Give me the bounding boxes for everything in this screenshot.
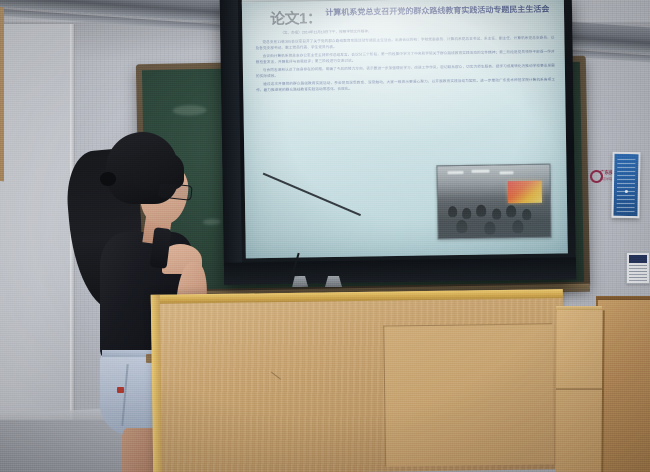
slide-body: 党总支在11栋305会议室召开了关于党的群众路线教育实践活动专题民主生活会。出席… [255, 35, 555, 94]
lectern [151, 289, 565, 472]
shorts-red-tab [117, 387, 124, 393]
notice-header-band [629, 255, 647, 263]
slide-title-lead: 论文1： [270, 7, 322, 29]
poster-marker [625, 190, 628, 193]
chalk-smudge [173, 105, 207, 116]
cabinet-seam [556, 388, 602, 390]
logo-subtext: 师范学院 [600, 177, 612, 181]
projected-slide: 论文1： 计算机系党总支召开党的群众路线教育实践活动专题民主生活会 （文、办宣）… [242, 0, 568, 258]
slide-title: 论文1： 计算机系党总支召开党的群众路线教育实践活动专题民主生活会 [270, 4, 556, 29]
projection-screen: 论文1： 计算机系党总支召开党的群众路线教育实践活动专题民主生活会 （文、办宣）… [220, 0, 576, 285]
photo-scene: 论文1： 计算机系党总支召开党的群众路线教育实践活动专题民主生活会 （文、办宣）… [0, 0, 650, 472]
notice-text-lines [629, 265, 647, 281]
school-logo: 广东技术 师范学院 [590, 170, 612, 183]
slide-content: 论文1： 计算机系党总支召开党的群众路线教育实践活动专题民主生活会 （文、办宣）… [242, 0, 568, 258]
podium-side-panel [0, 5, 4, 182]
lectern-door-panel[interactable] [383, 323, 554, 466]
poster-text-lines [617, 159, 636, 212]
slide-embedded-photo [436, 164, 551, 240]
hair-tie [100, 172, 116, 186]
slide-paragraph: 通过这次开展党的群众路线教育实践活动，参会党员深受教育、深受触动。大家一致表示要… [256, 76, 555, 93]
wall-notice [626, 252, 650, 284]
cabinet-middle [555, 310, 604, 472]
left-wall-surface [0, 24, 74, 472]
photo-light-wash [437, 165, 550, 239]
slide-title-main: 计算机系党总支召开党的群众路线教育实践活动专题民主生活会 [325, 4, 549, 19]
wall-poster-blue [611, 152, 640, 218]
